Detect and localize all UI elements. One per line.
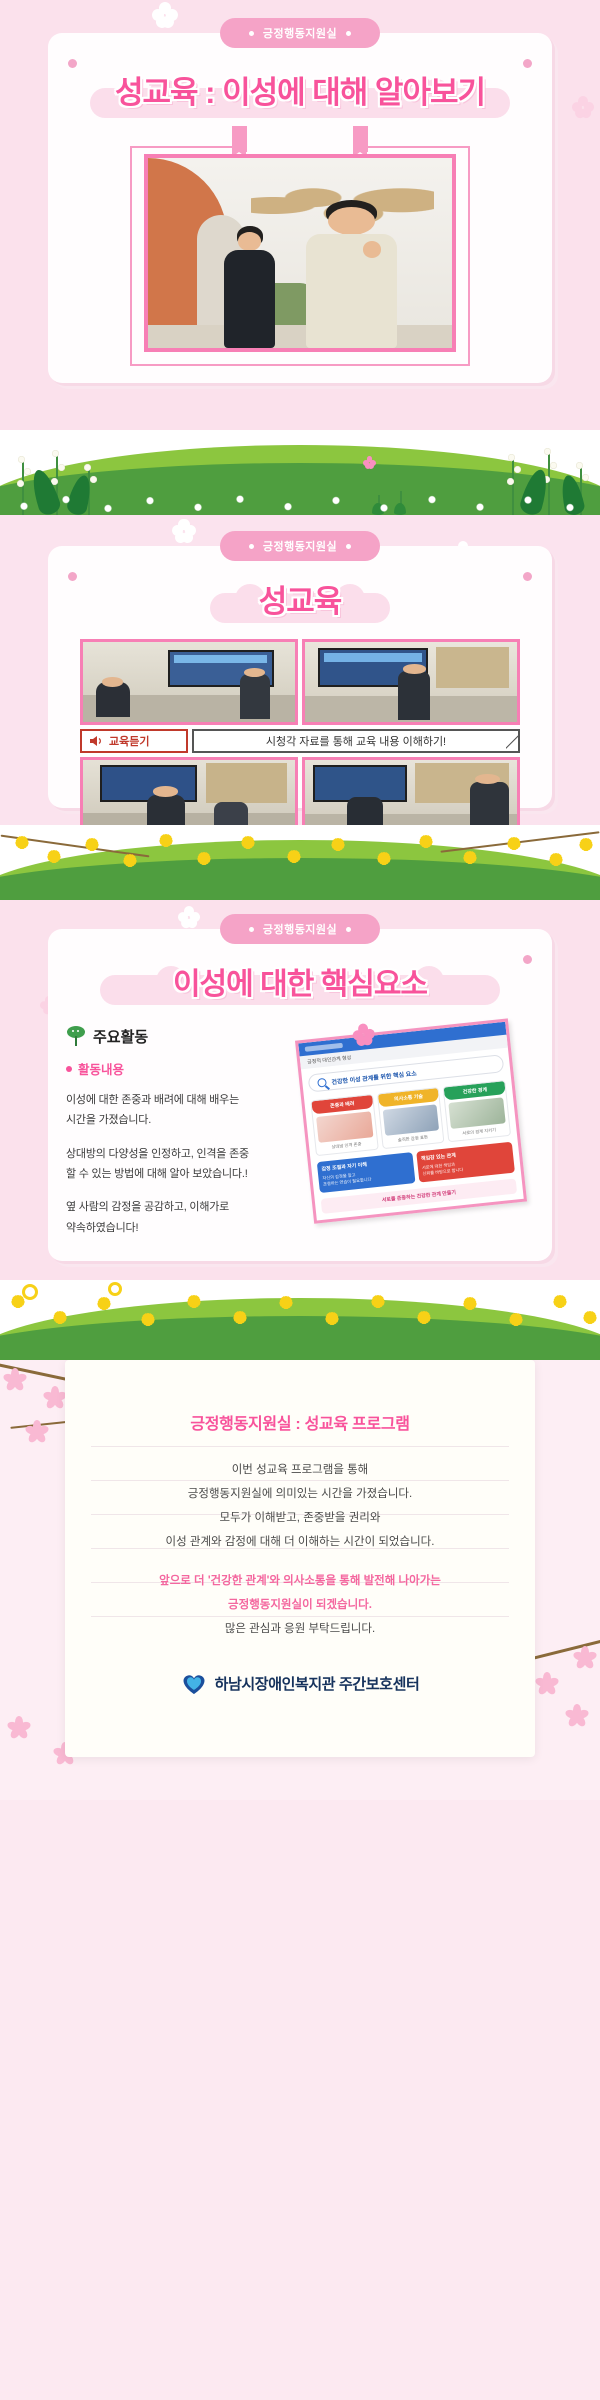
forsythia-icon (52, 1310, 67, 1325)
badge-label: 긍정행동지원실 (263, 921, 337, 937)
section-key-points: 긍정행동지원실 이성에 대한 핵심요소 (0, 900, 600, 1280)
grid-photo (80, 757, 298, 825)
forsythia-icon (278, 1295, 293, 1310)
forsythia-icon (462, 850, 477, 865)
forsythia-icon (330, 837, 345, 852)
forsythia-icon (122, 853, 137, 868)
cherry-blossom-icon (10, 1716, 28, 1734)
forsythia-icon (376, 851, 391, 866)
forsythia-icon (196, 851, 211, 866)
closing-note: 긍정행동지원실 : 성교육 프로그램 이번 성교육 프로그램을 통해 긍정행동지… (65, 1360, 535, 1757)
closing-line: 모두가 이해받고, 존중받을 권리와 (95, 1506, 505, 1530)
mock-card-image (449, 1097, 506, 1129)
cherry-blossom-icon (6, 1368, 24, 1386)
badge-dot-right (346, 927, 351, 932)
keypoints-card: 이성에 대한 핵심요소 주요활동 (48, 929, 552, 1261)
badge-dot-left (249, 927, 254, 932)
closing-spacer (95, 1555, 505, 1569)
keypoints-body: 주요활동 활동내용 이성에 대한 존중과 배려에 대해 배우는 시간을 가졌습니… (48, 1007, 552, 1273)
forsythia-icon (578, 837, 593, 852)
section-badge: 긍정행동지원실 (220, 914, 380, 944)
forsythia-icon (158, 833, 173, 848)
activity-paragraph: 옆 사람의 감정을 공감하고, 이해가로 약속하였습니다! (66, 1197, 298, 1238)
organization-logo-row: 하남시장애인복지관 주간보호센터 (95, 1671, 505, 1697)
blossom-icon (572, 96, 594, 118)
hero-card: 성교육 : 이성에 대해 알아보기 (48, 33, 552, 383)
grid-card: 성교육 (48, 546, 552, 808)
caption-text-listen: 시청각 자료를 통해 교육 내용 이해하기! (192, 729, 520, 753)
sub-heading: 활동내용 (78, 1059, 124, 1078)
organization-name: 하남시장애인복지관 주간보호센터 (215, 1673, 420, 1694)
scenery-band-forsythia (0, 825, 600, 900)
forsythia-icon (506, 836, 521, 851)
section-photo-grid: 긍정행동지원실 성교육 (0, 515, 600, 825)
section-badge: 긍정행동지원실 (220, 18, 380, 48)
mock-card-image (382, 1104, 439, 1136)
page-title: 성교육 : 이성에 대해 알아보기 (115, 75, 485, 110)
main-heading: 주요활동 (93, 1026, 148, 1047)
photo-grid-row1 (80, 639, 520, 725)
forsythia-icon (462, 1296, 477, 1311)
caption-chip-listen: 교육듣기 (80, 729, 188, 753)
badge-dot-left (249, 544, 254, 549)
closing-line: 이성 관계와 감정에 대해 더 이해하는 시간이 되었습니다. (95, 1530, 505, 1554)
scenery-band-canola (0, 1280, 600, 1360)
closing-title: 긍정행동지원실 : 성교육 프로그램 (95, 1410, 505, 1434)
sub-heading-row: 활동내용 (66, 1059, 298, 1078)
forsythia-icon (418, 834, 433, 849)
grid-photo (80, 639, 298, 725)
mock-card-image (316, 1111, 373, 1143)
forsythia-icon (508, 1312, 523, 1327)
forsythia-icon (232, 1310, 247, 1325)
forsythia-icon (416, 1310, 431, 1325)
caption-chip-label: 교육듣기 (109, 733, 149, 749)
section-title: 성교육 (259, 584, 342, 619)
clip-icon (353, 126, 368, 152)
forsythia-icon (324, 1311, 339, 1326)
caption-row-1: 교육듣기 시청각 자료를 통해 교육 내용 이해하기! (80, 729, 520, 753)
forsythia-icon (84, 837, 99, 852)
closing-line: 많은 관심과 응원 부탁드립니다. (95, 1617, 505, 1641)
keypoints-text-column: 주요활동 활동내용 이성에 대한 존중과 배려에 대해 배우는 시간을 가졌습니… (66, 1025, 298, 1251)
forsythia-icon (286, 849, 301, 864)
cherry-blossom-icon (538, 1672, 556, 1690)
grid-photo (302, 757, 520, 825)
forsythia-icon (240, 835, 255, 850)
photo-grid-row2 (80, 757, 520, 825)
badge-dot-right (346, 544, 351, 549)
cherry-blossom-icon (28, 1420, 46, 1438)
clip-icon (232, 126, 247, 152)
screenshot-mockup-wrap: 긍정적 대인관계 형성 건강한 이성 관계를 위한 핵심 요소 존중과 배려 상… (295, 1018, 531, 1261)
mock-search-query: 건강한 이성 관계를 위한 핵심 요소 (331, 1068, 417, 1086)
forsythia-icon (46, 849, 61, 864)
tree-icon (66, 1025, 86, 1047)
main-heading-row: 주요활동 (66, 1025, 298, 1047)
scenery-band-lily (0, 430, 600, 515)
forsythia-icon (140, 1312, 155, 1327)
cherry-blossom-icon (568, 1704, 586, 1722)
bullet-dot-icon (66, 1066, 72, 1072)
hero-photo (144, 154, 456, 352)
forsythia-icon (582, 1310, 597, 1325)
screenshot-mockup: 긍정적 대인관계 형성 건강한 이성 관계를 위한 핵심 요소 존중과 배려 상… (295, 1018, 527, 1223)
forsythia-icon (96, 1296, 111, 1311)
heart-logo-icon (181, 1671, 207, 1697)
grid-photo (302, 639, 520, 725)
forsythia-icon (370, 1294, 385, 1309)
section-closing: 긍정행동지원실 : 성교육 프로그램 이번 성교육 프로그램을 통해 긍정행동지… (0, 1360, 600, 1800)
section-title: 이성에 대한 핵심요소 (173, 968, 427, 1001)
mock-card: 건강한 경계 서로의 경계 지키기 (443, 1080, 511, 1142)
poster-page: 긍정행동지원실 성교육 : 이성에 대해 알아보기 (0, 0, 600, 2400)
hero-photo-frame (130, 136, 470, 366)
mock-card: 존중과 배려 상대방 인격 존중 (310, 1094, 378, 1156)
closing-line-accent: 긍정행동지원실이 되겠습니다. (95, 1593, 505, 1617)
activity-paragraph: 이성에 대한 존중과 배려에 대해 배우는 시간을 가졌습니다. (66, 1090, 298, 1131)
search-icon (317, 1077, 327, 1087)
cherry-blossom-icon (576, 1646, 594, 1664)
cherry-blossom-icon (46, 1386, 64, 1404)
badge-dot-left (249, 31, 254, 36)
section-badge: 긍정행동지원실 (220, 531, 380, 561)
forsythia-icon (14, 835, 29, 850)
mock-card: 의사소통 기술 솔직한 감정 표현 (377, 1087, 445, 1149)
closing-line: 이번 성교육 프로그램을 통해 (95, 1458, 505, 1482)
forsythia-icon (186, 1294, 201, 1309)
badge-dot-right (346, 31, 351, 36)
closing-line-accent: 앞으로 더 '건강한 관계'와 의사소통을 통해 발전해 나아가는 (95, 1569, 505, 1593)
badge-label: 긍정행동지원실 (263, 25, 337, 41)
forsythia-icon (552, 1294, 567, 1309)
badge-label: 긍정행동지원실 (263, 538, 337, 554)
activity-paragraph: 상대방의 다양성을 인정하고, 인격을 존중 할 수 있는 방법에 대해 알아 … (66, 1144, 298, 1185)
forsythia-icon (548, 852, 563, 867)
closing-line: 긍정행동지원실에 의미있는 시간을 가졌습니다. (95, 1482, 505, 1506)
section-hero: 긍정행동지원실 성교육 : 이성에 대해 알아보기 (0, 0, 600, 430)
speaker-icon (88, 734, 104, 748)
